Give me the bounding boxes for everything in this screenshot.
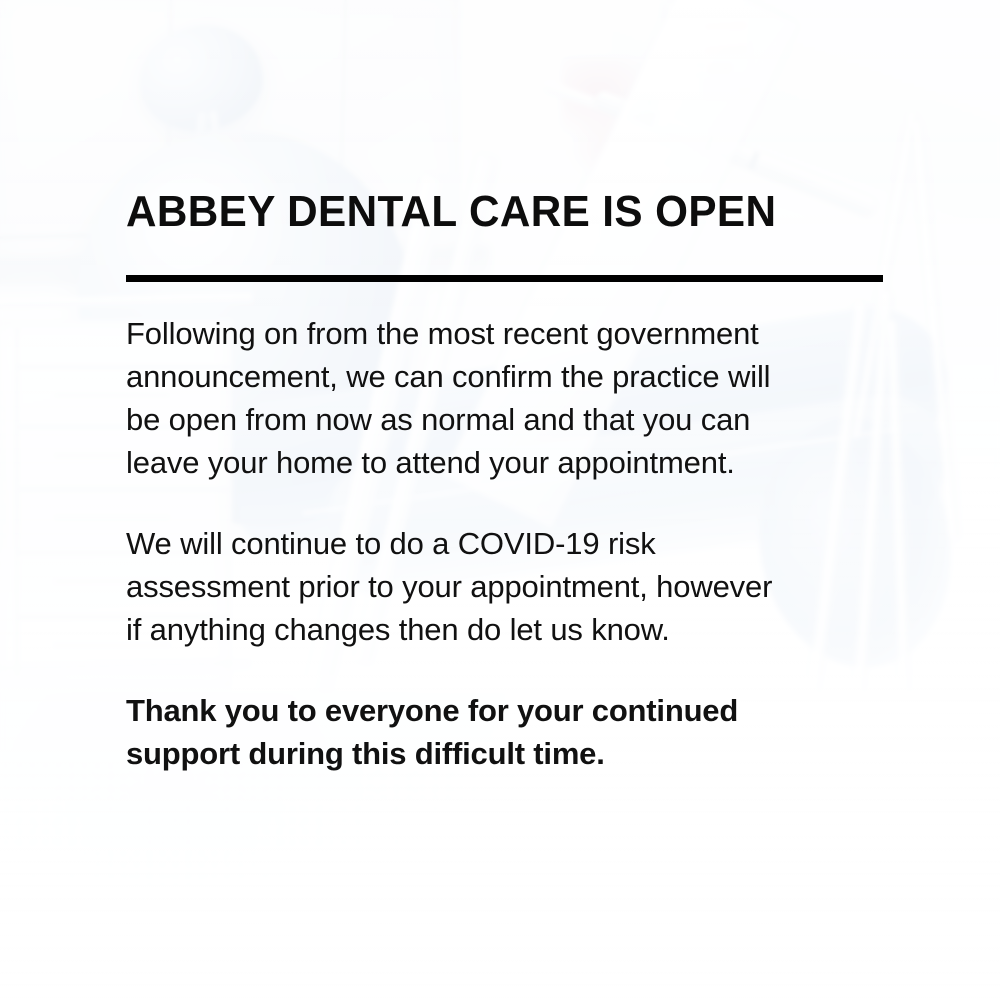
title-divider xyxy=(126,275,883,282)
paragraph-3-line-1: Thank you to everyone for your continued xyxy=(126,689,896,732)
paragraph-3-line-2: support during this difficult time. xyxy=(126,732,896,775)
paragraph-2-line-3: if anything changes then do let us know. xyxy=(126,608,896,651)
paragraph-1-line-1: Following on from the most recent govern… xyxy=(126,312,896,355)
paragraph-1-line-2: announcement, we can confirm the practic… xyxy=(126,355,896,398)
paragraph-1-line-4: leave your home to attend your appointme… xyxy=(126,441,896,484)
paragraph-3: Thank you to everyone for your continued… xyxy=(126,689,896,775)
paragraph-1: Following on from the most recent govern… xyxy=(126,312,896,484)
poster-content: ABBEY DENTAL CARE IS OPEN Following on f… xyxy=(126,186,896,775)
paragraph-1-line-3: be open from now as normal and that you … xyxy=(126,398,896,441)
paragraph-2-line-2: assessment prior to your appointment, ho… xyxy=(126,565,896,608)
body-text: Following on from the most recent govern… xyxy=(126,312,896,775)
paragraph-2: We will continue to do a COVID-19 risk a… xyxy=(126,522,896,651)
announcement-poster: ABBEY DENTAL CARE IS OPEN Following on f… xyxy=(0,0,1000,1000)
paragraph-2-line-1: We will continue to do a COVID-19 risk xyxy=(126,522,896,565)
page-title: ABBEY DENTAL CARE IS OPEN xyxy=(126,186,865,238)
